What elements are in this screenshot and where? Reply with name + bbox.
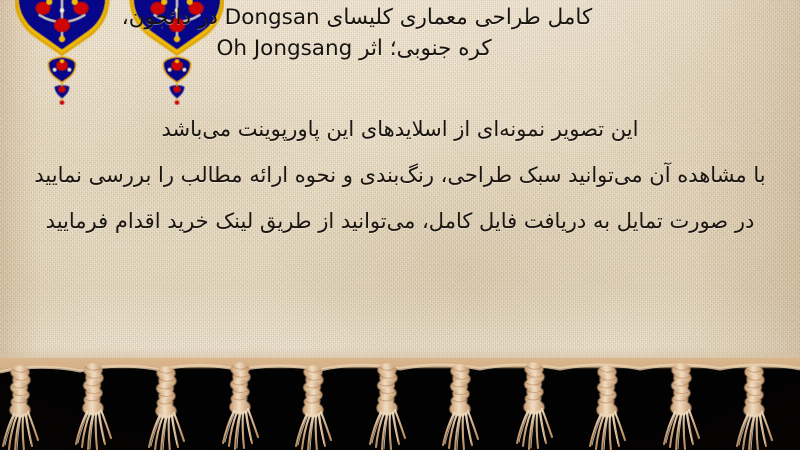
body-line-3: در صورت تمایل به دریافت فایل کامل، می‌تو… bbox=[0, 198, 800, 244]
body-line-2: با مشاهده آن می‌توانید سبک طراحی، رنگ‌بن… bbox=[0, 152, 800, 198]
title-line-2: کره جنوبی؛ اثر Oh Jongsang bbox=[0, 33, 800, 64]
title-line-1: کامل طراحی معماری کلیسای Dongsan در دائج… bbox=[0, 2, 800, 33]
body-line-1: این تصویر نمونه‌ای از اسلایدهای این پاور… bbox=[0, 106, 800, 152]
tassel-row bbox=[3, 363, 772, 450]
page-title: کامل طراحی معماری کلیسای Dongsan در دائج… bbox=[0, 2, 800, 64]
slide-canvas: کامل طراحی معماری کلیسای Dongsan در دائج… bbox=[0, 0, 800, 450]
body-text: این تصویر نمونه‌ای از اسلایدهای این پاور… bbox=[0, 106, 800, 244]
carpet-fringe bbox=[0, 358, 800, 450]
